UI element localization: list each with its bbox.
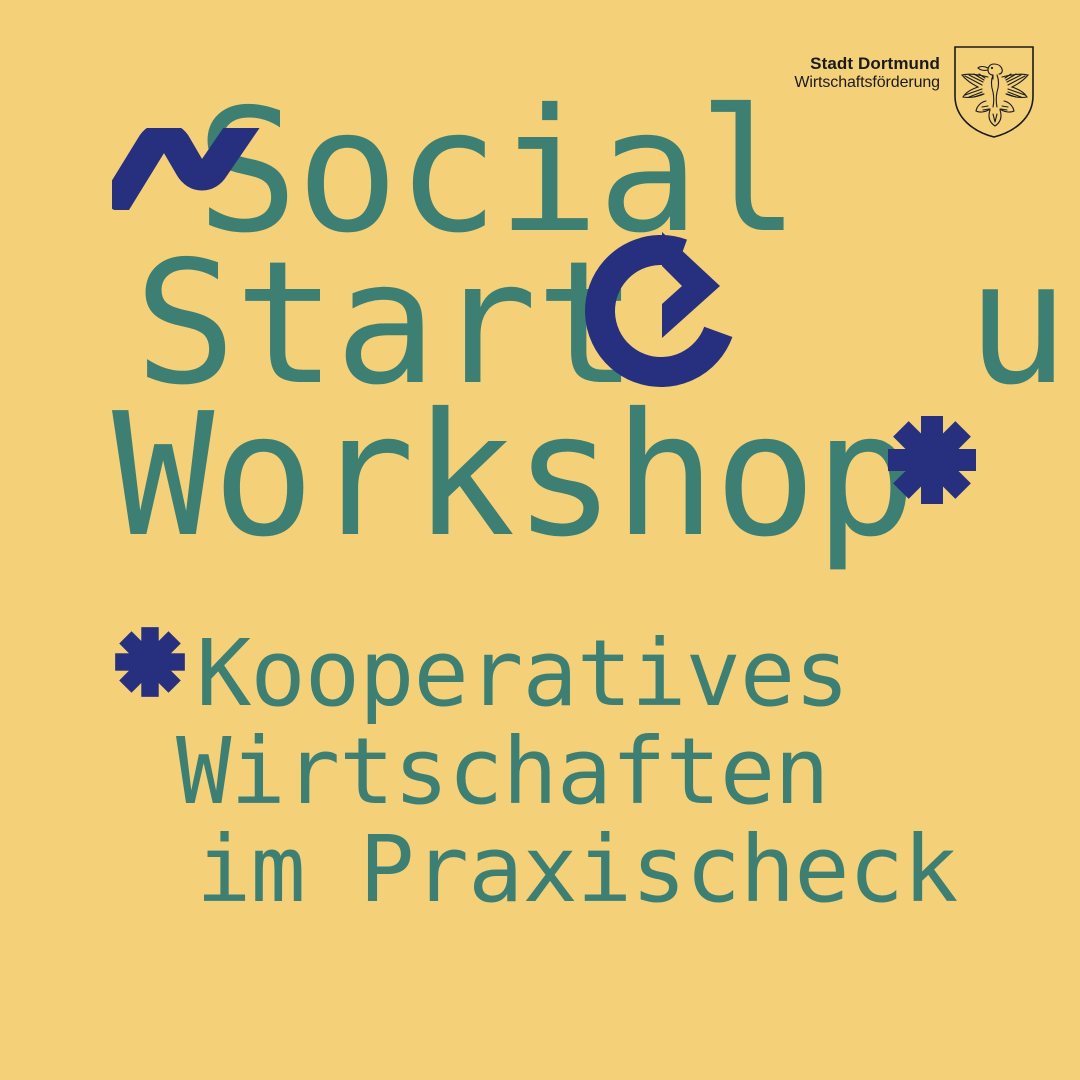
logo-wordmark: Stadt Dortmund Wirtschaftsförderung: [794, 44, 940, 93]
subtitle-line-1: Kooperatives: [196, 628, 1080, 720]
asterisk-icon: [884, 412, 980, 508]
headline-workshop-text: Workshop: [112, 400, 915, 552]
asterisk-icon: [112, 624, 188, 700]
circular-arrow-icon: [578, 228, 744, 394]
logo-organization-label: Stadt Dortmund: [794, 54, 940, 74]
headline-up-text: up: [966, 248, 1080, 400]
poster-canvas: Stadt Dortmund Wirtschaftsförderung: [0, 0, 1080, 1080]
squiggle-icon: [112, 128, 272, 210]
logo-department-label: Wirtschaftsförderung: [794, 74, 940, 93]
subtitle-line-2: Wirtschaften: [176, 726, 1080, 818]
subtitle-line-3: im Praxischeck: [196, 824, 1080, 916]
